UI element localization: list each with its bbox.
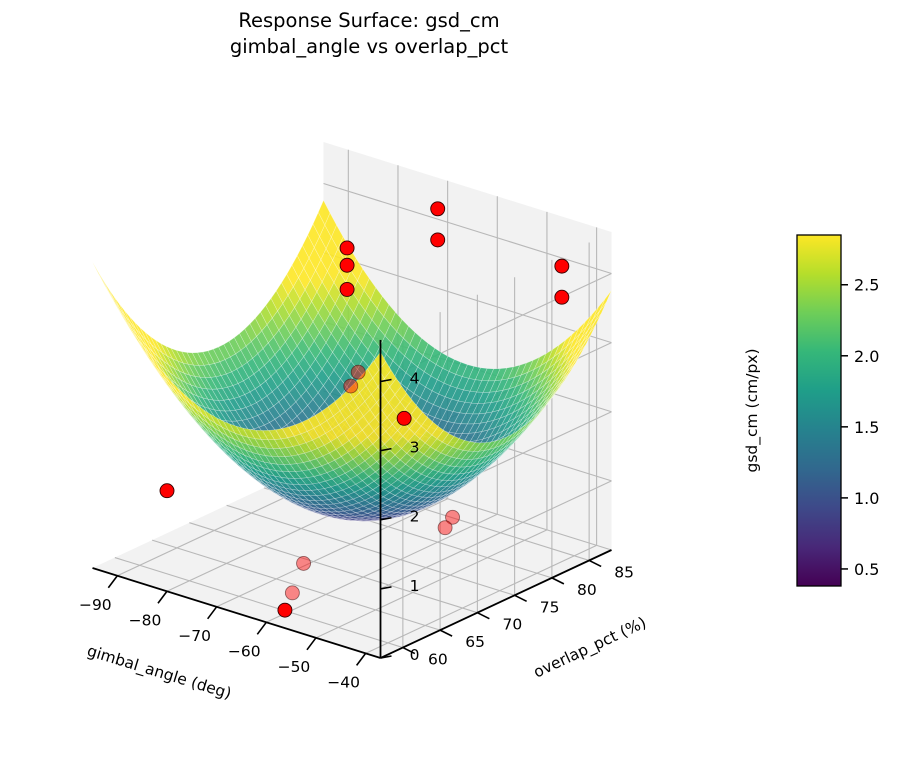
x-tick-label: −90 bbox=[79, 596, 112, 614]
scatter-point bbox=[344, 379, 358, 393]
y-axis-label: overlap_pct (%) bbox=[531, 613, 650, 682]
colorbar-tick-label: 0.5 bbox=[854, 560, 879, 579]
colorbar-label: gsd_cm (cm/px) bbox=[743, 349, 762, 473]
y-tick-label: 80 bbox=[577, 581, 597, 599]
scatter-point bbox=[438, 521, 452, 535]
z-tick-label: 1 bbox=[410, 577, 420, 595]
y-tick-label: 70 bbox=[503, 616, 523, 634]
scatter-point bbox=[431, 202, 445, 216]
plot-title-line2: gimbal_angle vs overlap_pct bbox=[230, 35, 509, 58]
y-tick-label: 65 bbox=[465, 633, 485, 651]
z-tick-label: 0 bbox=[410, 646, 420, 664]
colorbar-ticks: 0.51.01.52.02.5 bbox=[841, 276, 879, 579]
x-tick-label: −70 bbox=[178, 627, 211, 645]
scatter-point bbox=[278, 603, 292, 617]
z-tick-label: 2 bbox=[410, 508, 420, 526]
scatter-point bbox=[555, 290, 569, 304]
z-tick-label: 3 bbox=[410, 439, 420, 457]
scatter-point bbox=[397, 411, 411, 425]
scatter-point bbox=[297, 556, 311, 570]
response-surface-3d-plot: Response Surface: gsd_cm gimbal_angle vs… bbox=[0, 0, 902, 770]
colorbar-gradient bbox=[797, 235, 841, 586]
figure-canvas: Response Surface: gsd_cm gimbal_angle vs… bbox=[0, 0, 902, 770]
scatter-point bbox=[555, 259, 569, 273]
y-tick-label: 75 bbox=[540, 598, 560, 616]
scatter-point bbox=[340, 241, 354, 255]
colorbar-tick-label: 2.0 bbox=[854, 347, 879, 366]
x-tick-label: −60 bbox=[228, 642, 261, 660]
scatter-point bbox=[160, 484, 174, 498]
y-tick-label: 60 bbox=[428, 651, 448, 669]
x-tick-label: −40 bbox=[327, 673, 360, 691]
scatter-point bbox=[285, 586, 299, 600]
plot-title-line1: Response Surface: gsd_cm bbox=[238, 9, 499, 32]
y-tick-label: 85 bbox=[614, 563, 634, 581]
scatter-point bbox=[431, 233, 445, 247]
scatter-point bbox=[351, 365, 365, 379]
z-tick-label: 4 bbox=[410, 369, 420, 387]
scatter-point bbox=[340, 282, 354, 296]
x-tick-label: −50 bbox=[278, 658, 311, 676]
colorbar-tick-label: 1.0 bbox=[854, 489, 879, 508]
x-tick-label: −80 bbox=[129, 611, 162, 629]
colorbar-tick-label: 1.5 bbox=[854, 418, 879, 437]
scatter-point bbox=[340, 258, 354, 272]
colorbar[interactable]: 0.51.01.52.02.5 gsd_cm (cm/px) bbox=[743, 235, 879, 586]
x-axis-label: gimbal_angle (deg) bbox=[85, 642, 234, 704]
colorbar-tick-label: 2.5 bbox=[854, 276, 879, 295]
